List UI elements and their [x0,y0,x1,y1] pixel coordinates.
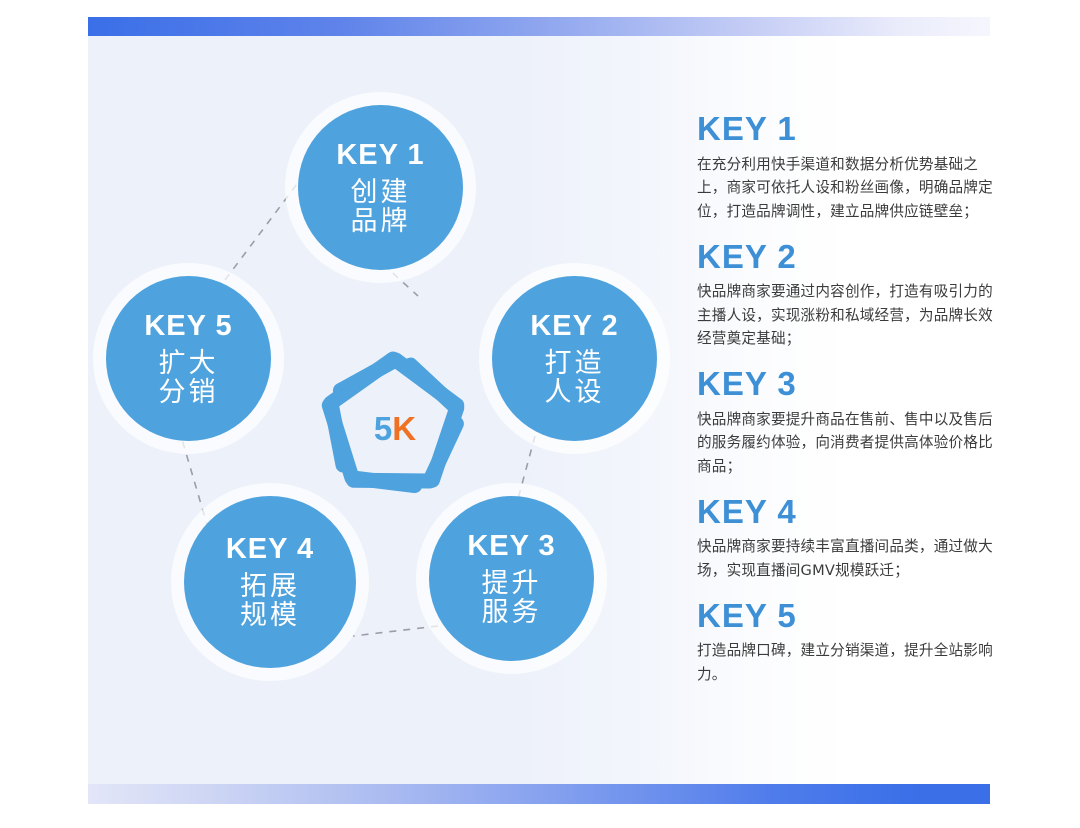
node-line-1: 创建 [351,179,411,206]
node-line-2: 分销 [159,379,219,406]
node-line-1: 打造 [545,350,605,377]
detail-block-key-1: KEY 1 在充分利用快手渠道和数据分析优势基础之上，商家可依托人设和粉丝画像，… [697,112,997,224]
5k-pentagon-logo-icon: 5K [303,341,483,511]
detail-heading: KEY 1 [697,112,997,147]
detail-block-key-2: KEY 2 快品牌商家要通过内容创作，打造有吸引力的主播人设，实现涨粉和私域经营… [697,240,997,352]
node-key-5[interactable]: KEY 5 扩大 分销 [106,276,271,441]
top-gradient-bar [88,17,990,36]
detail-heading: KEY 5 [697,599,997,634]
pentagon-diagram: KEY 1 创建 品牌 KEY 2 打造 人设 KEY 3 提升 服务 KEY … [88,36,688,784]
node-key-3[interactable]: KEY 3 提升 服务 [429,496,594,661]
node-key-2[interactable]: KEY 2 打造 人设 [492,276,657,441]
detail-body: 快品牌商家要持续丰富直播间品类，通过做大场，实现直播间GMV规模跃迁； [697,535,997,582]
detail-body: 打造品牌口碑，建立分销渠道，提升全站影响力。 [697,639,997,686]
node-line-1: 扩大 [159,350,219,377]
detail-body: 在充分利用快手渠道和数据分析优势基础之上，商家可依托人设和粉丝画像，明确品牌定位… [697,153,997,224]
logo-text: 5K [303,341,483,511]
node-key-label: KEY 4 [226,535,314,564]
key-details-rail: KEY 1 在充分利用快手渠道和数据分析优势基础之上，商家可依托人设和粉丝画像，… [697,112,997,687]
detail-heading: KEY 2 [697,240,997,275]
node-key-1[interactable]: KEY 1 创建 品牌 [298,105,463,270]
node-line-1: 拓展 [240,573,300,600]
detail-block-key-5: KEY 5 打造品牌口碑，建立分销渠道，提升全站影响力。 [697,599,997,687]
node-key-label: KEY 1 [336,141,424,170]
detail-heading: KEY 4 [697,495,997,530]
detail-block-key-3: KEY 3 快品牌商家要提升商品在售前、售中以及售后的服务履约体验，向消费者提供… [697,367,997,479]
logo-text-5: 5 [374,410,392,448]
node-line-2: 服务 [482,599,542,626]
node-key-label: KEY 2 [530,312,618,341]
node-key-label: KEY 5 [144,312,232,341]
node-line-2: 品牌 [351,208,411,235]
node-line-2: 人设 [545,379,605,406]
detail-heading: KEY 3 [697,367,997,402]
detail-body: 快品牌商家要提升商品在售前、售中以及售后的服务履约体验，向消费者提供高体验价格比… [697,408,997,479]
bottom-gradient-bar [88,784,990,804]
node-line-1: 提升 [482,570,542,597]
detail-body: 快品牌商家要通过内容创作，打造有吸引力的主播人设，实现涨粉和私域经营，为品牌长效… [697,280,997,351]
logo-text-k: K [392,410,416,448]
node-key-label: KEY 3 [467,532,555,561]
detail-block-key-4: KEY 4 快品牌商家要持续丰富直播间品类，通过做大场，实现直播间GMV规模跃迁… [697,495,997,583]
node-line-2: 规模 [240,602,300,629]
node-key-4[interactable]: KEY 4 拓展 规模 [184,496,356,668]
